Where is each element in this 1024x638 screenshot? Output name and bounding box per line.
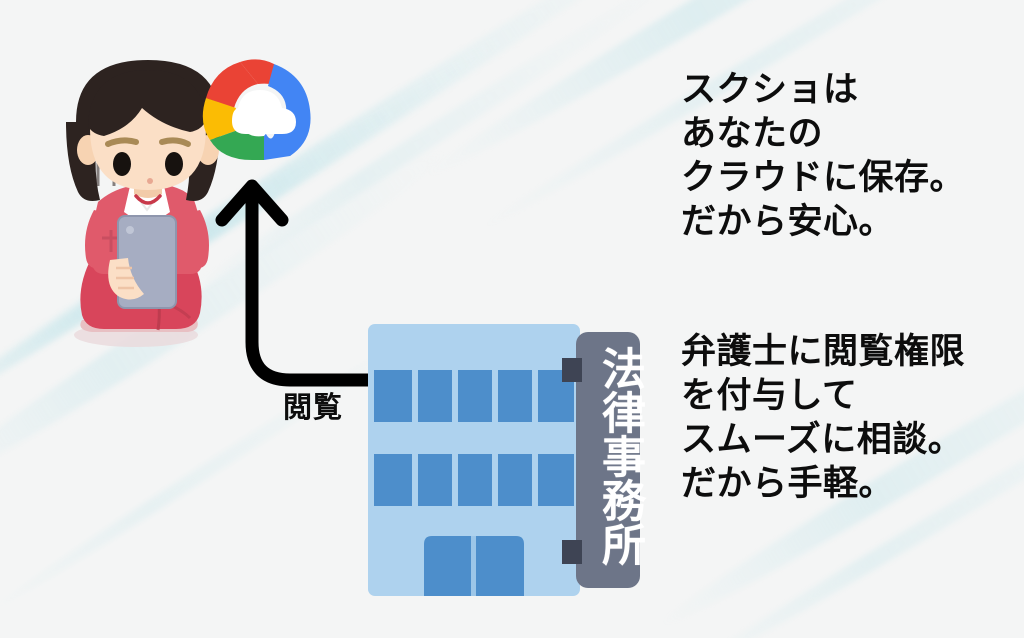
cloud-storage-copy: スクショは あなたの クラウドに保存。 だから安心。 <box>681 68 965 244</box>
google-cloud-logo <box>196 56 320 168</box>
lawyer-access-copy: 弁護士に閲覧権限 を付与して スムーズに相談。 だから手軽。 <box>681 330 965 506</box>
illustration-canvas: 閲覧 法律事務所 スクショは あなたの クラウドに保存。 だから安心。 <box>0 0 1024 638</box>
law-office-sign-text: 法律事務所 <box>590 338 644 574</box>
arrow-label: 閲覧 <box>283 384 343 426</box>
